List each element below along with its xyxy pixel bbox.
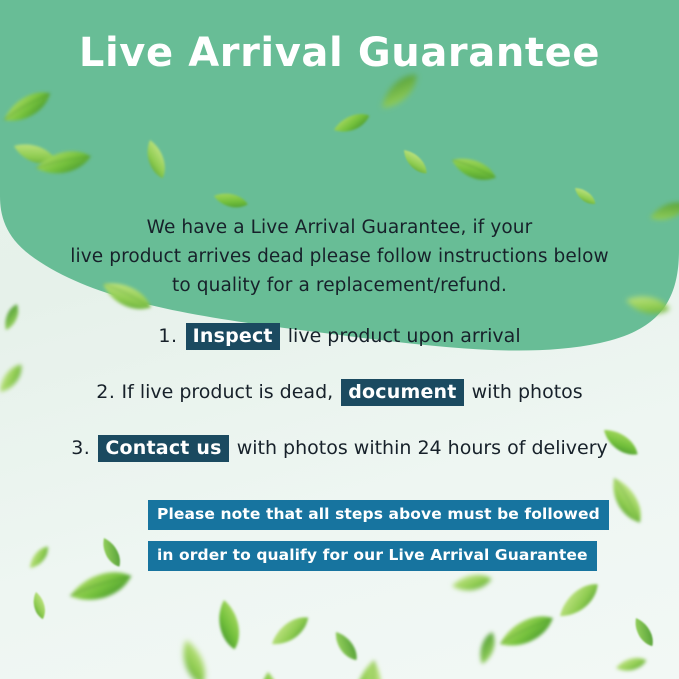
step-text-after: with photos within 24 hours of delivery — [237, 437, 608, 459]
intro-line-1: We have a Live Arrival Guarantee, if you… — [147, 217, 533, 238]
note-line-2: in order to qualify for our Live Arrival… — [148, 541, 597, 571]
intro-line-2: live product arrives dead please follow … — [70, 246, 609, 267]
step-number: 3. — [71, 437, 90, 459]
step-number: 2. — [96, 381, 115, 403]
page-title: Live Arrival Guarantee — [0, 30, 679, 76]
step-highlight-contact-us: Contact us — [98, 435, 228, 462]
step-number: 1. — [158, 325, 177, 347]
step-item-3: 3. Contact us with photos within 24 hour… — [0, 435, 679, 462]
step-highlight-inspect: Inspect — [186, 323, 280, 350]
step-text-after: with photos — [472, 381, 583, 403]
note-block: Please note that all steps above must be… — [148, 500, 548, 571]
step-item-1: 1. Inspect live product upon arrival — [0, 323, 679, 350]
live-arrival-guarantee-poster: Live Arrival Guarantee We have a Live Ar… — [0, 0, 679, 679]
step-text-before: If live product is dead, — [121, 381, 333, 403]
note-line-1: Please note that all steps above must be… — [148, 500, 609, 530]
intro-line-3: to quality for a replacement/refund. — [172, 275, 507, 296]
intro-paragraph: We have a Live Arrival Guarantee, if you… — [70, 213, 610, 300]
step-text-after: live product upon arrival — [288, 325, 521, 347]
poster-content: We have a Live Arrival Guarantee, if you… — [0, 0, 679, 679]
step-item-2: 2. If live product is dead, document wit… — [0, 379, 679, 406]
step-highlight-document: document — [341, 379, 463, 406]
